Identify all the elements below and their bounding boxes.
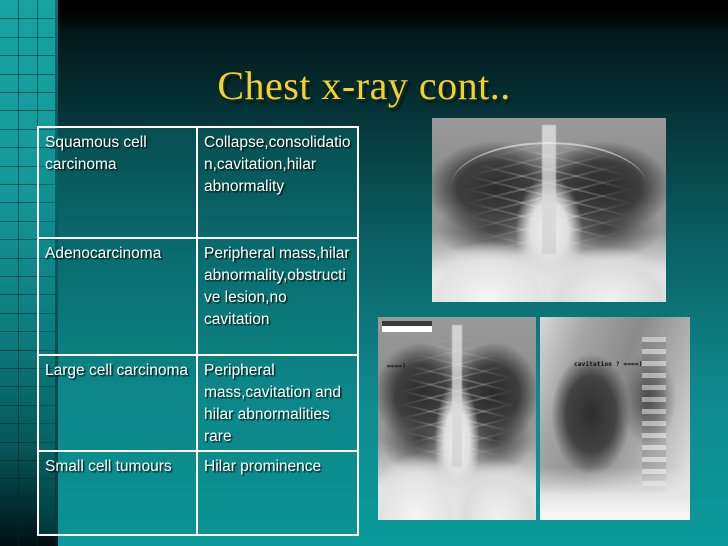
background-top-shadow xyxy=(0,0,728,34)
table-row: Adenocarcinoma Peripheral mass,hilar abn… xyxy=(39,237,357,354)
page-title: Chest x-ray cont.. xyxy=(0,62,728,109)
grid-line-horizontal xyxy=(0,18,55,19)
table-cell-findings: Peripheral mass,hilar abnormality,obstru… xyxy=(198,239,357,354)
cell-text: Hilar prominence xyxy=(204,456,353,478)
cell-text: Collapse,consolidation,cavitation,hilar … xyxy=(204,132,353,198)
table-cell-tumour-type: Adenocarcinoma xyxy=(39,239,198,354)
table-row: Large cell carcinoma Peripheral mass,cav… xyxy=(39,354,357,450)
table-cell-tumour-type: Small cell tumours xyxy=(39,452,198,534)
radiograph-film xyxy=(378,317,536,520)
chest-xray-image-bottom-left: ====) xyxy=(378,317,536,520)
table-row: Squamous cell carcinoma Collapse,consoli… xyxy=(39,128,357,237)
diaphragm-shadow xyxy=(432,239,666,302)
diaphragm-shadow xyxy=(540,467,690,520)
spine-shadow xyxy=(452,325,461,467)
cell-text: Large cell carcinoma xyxy=(45,360,192,382)
cell-text: Peripheral mass,hilar abnormality,obstru… xyxy=(204,243,353,331)
cavitation-annotation: cavitation ? ====) xyxy=(574,361,643,368)
table-cell-findings: Peripheral mass,cavitation and hilar abn… xyxy=(198,356,357,450)
findings-table: Squamous cell carcinoma Collapse,consoli… xyxy=(37,126,359,536)
chest-xray-image-top xyxy=(432,118,666,302)
table-cell-tumour-type: Large cell carcinoma xyxy=(39,356,198,450)
arrow-annotation: ====) xyxy=(387,363,406,370)
cell-text: Peripheral mass,cavitation and hilar abn… xyxy=(204,360,353,448)
grid-line-horizontal xyxy=(0,37,55,38)
table-cell-findings: Hilar prominence xyxy=(198,452,357,534)
radiograph-film xyxy=(540,317,690,520)
grid-line-horizontal xyxy=(0,55,55,56)
table-row: Small cell tumours Hilar prominence xyxy=(39,450,357,534)
cell-text: Adenocarcinoma xyxy=(45,243,192,265)
grid-line-horizontal xyxy=(0,110,55,111)
cell-text: Squamous cell carcinoma xyxy=(45,132,192,176)
radiograph-film xyxy=(432,118,666,302)
diaphragm-shadow xyxy=(378,451,536,520)
cell-text: Small cell tumours xyxy=(45,456,192,478)
chest-xray-image-bottom-right: cavitation ? ====) xyxy=(540,317,690,520)
film-marker-bar xyxy=(382,321,432,332)
slide-canvas: Chest x-ray cont.. Squamous cell carcino… xyxy=(0,0,728,546)
table-cell-tumour-type: Squamous cell carcinoma xyxy=(39,128,198,237)
table-cell-findings: Collapse,consolidation,cavitation,hilar … xyxy=(198,128,357,237)
